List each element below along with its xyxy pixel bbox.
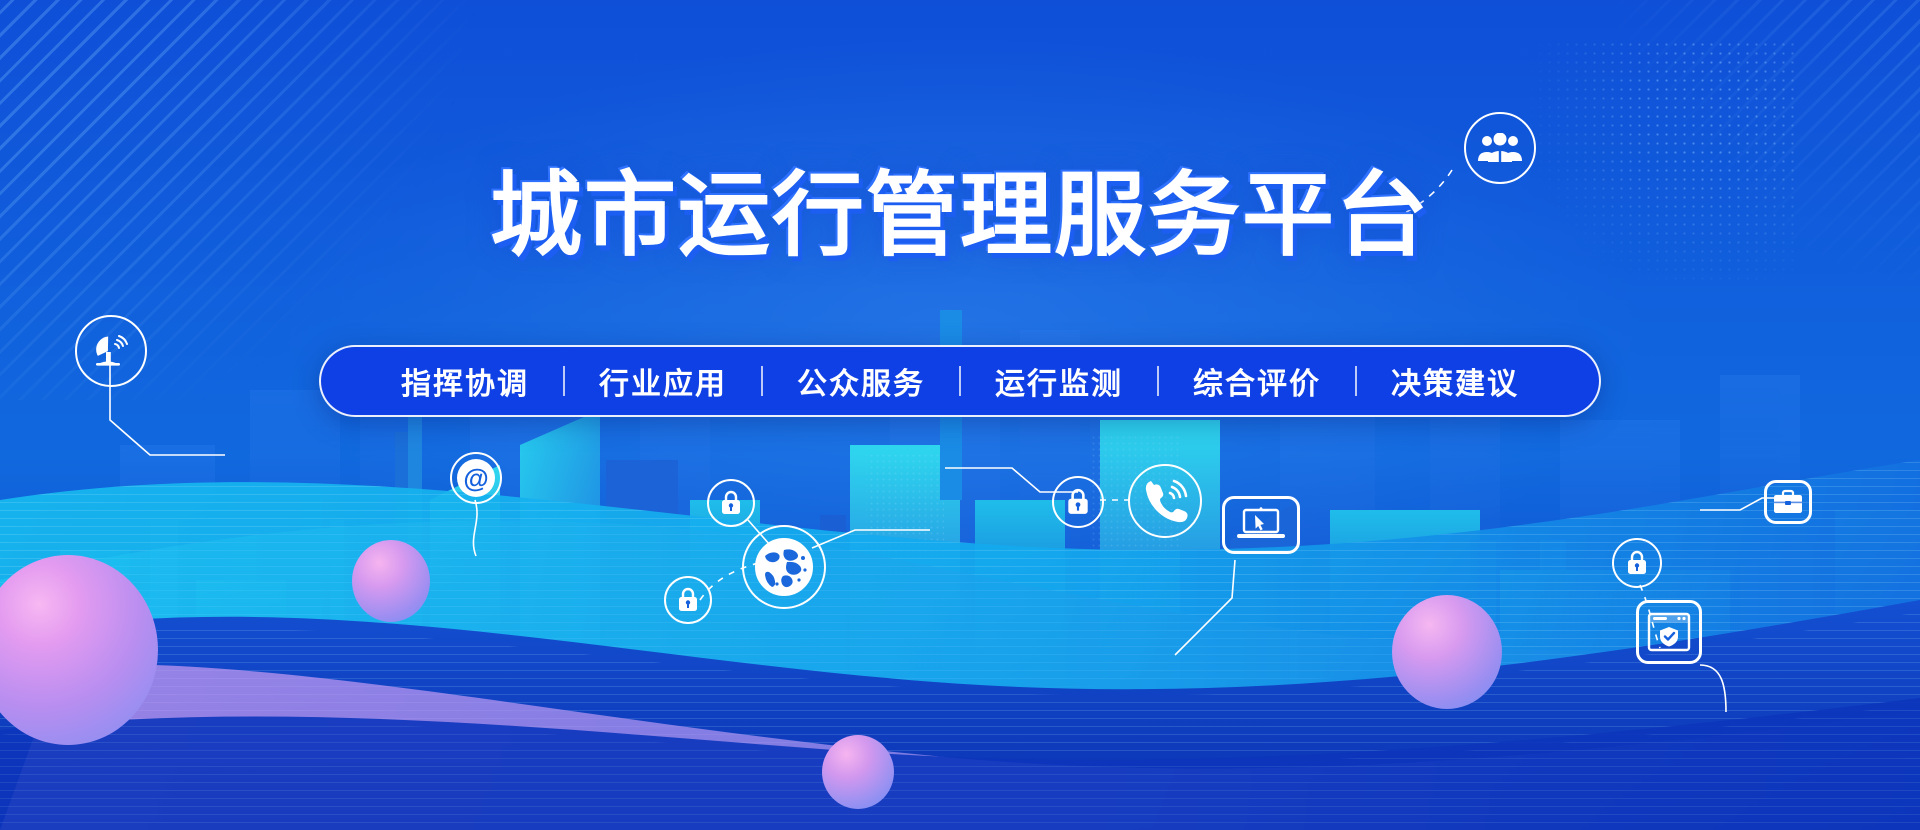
lock-glyph (720, 490, 742, 516)
lock-glyph (1626, 550, 1648, 576)
laptop-cursor-icon[interactable] (1222, 496, 1300, 554)
globe-icon[interactable] (742, 525, 826, 609)
nav-item-1[interactable]: 行业应用 (565, 359, 761, 403)
lock-icon-2[interactable] (664, 576, 712, 624)
lock-glyph (677, 587, 699, 613)
nav-item-2[interactable]: 公众服务 (763, 359, 959, 403)
nav-item-4[interactable]: 综合评价 (1159, 359, 1355, 403)
nav-item-0[interactable]: 指挥协调 (367, 359, 563, 403)
briefcase-icon[interactable] (1764, 480, 1812, 524)
wave-ribbons (0, 430, 1920, 830)
globe-glyph (753, 536, 815, 598)
briefcase-glyph (1773, 489, 1803, 515)
browser-shield-glyph (1646, 611, 1692, 653)
phone-signal-glyph (1141, 477, 1189, 525)
at-sign-glyph: @ (457, 459, 495, 497)
people-group-glyph (1478, 133, 1522, 163)
lock-icon-4[interactable] (1612, 538, 1662, 588)
decorative-sphere-left-small (352, 540, 430, 622)
decorative-sphere-bottom (822, 735, 894, 809)
nav-item-3[interactable]: 运行监测 (961, 359, 1157, 403)
page-title-wrap: 城市运行管理服务平台 (0, 168, 1920, 266)
page-title: 城市运行管理服务平台 (490, 168, 1430, 266)
decorative-sphere-right (1392, 595, 1502, 709)
lock-icon-1[interactable] (707, 479, 755, 527)
waves-svg (0, 430, 1920, 830)
at-sign-icon[interactable]: @ (450, 452, 502, 504)
satellite-dish-icon[interactable] (75, 315, 147, 387)
phone-signal-icon[interactable] (1128, 464, 1202, 538)
city-platform-banner: @ (0, 0, 1920, 830)
lock-glyph (1066, 488, 1090, 516)
primary-nav-pill[interactable]: 指挥协调 行业应用 公众服务 运行监测 综合评价 决策建议 (319, 345, 1601, 417)
nav-item-5[interactable]: 决策建议 (1357, 359, 1553, 403)
lock-icon-3[interactable] (1052, 476, 1104, 528)
browser-shield-icon[interactable] (1636, 600, 1702, 664)
laptop-glyph (1235, 506, 1287, 544)
satellite-dish-glyph (90, 330, 132, 372)
